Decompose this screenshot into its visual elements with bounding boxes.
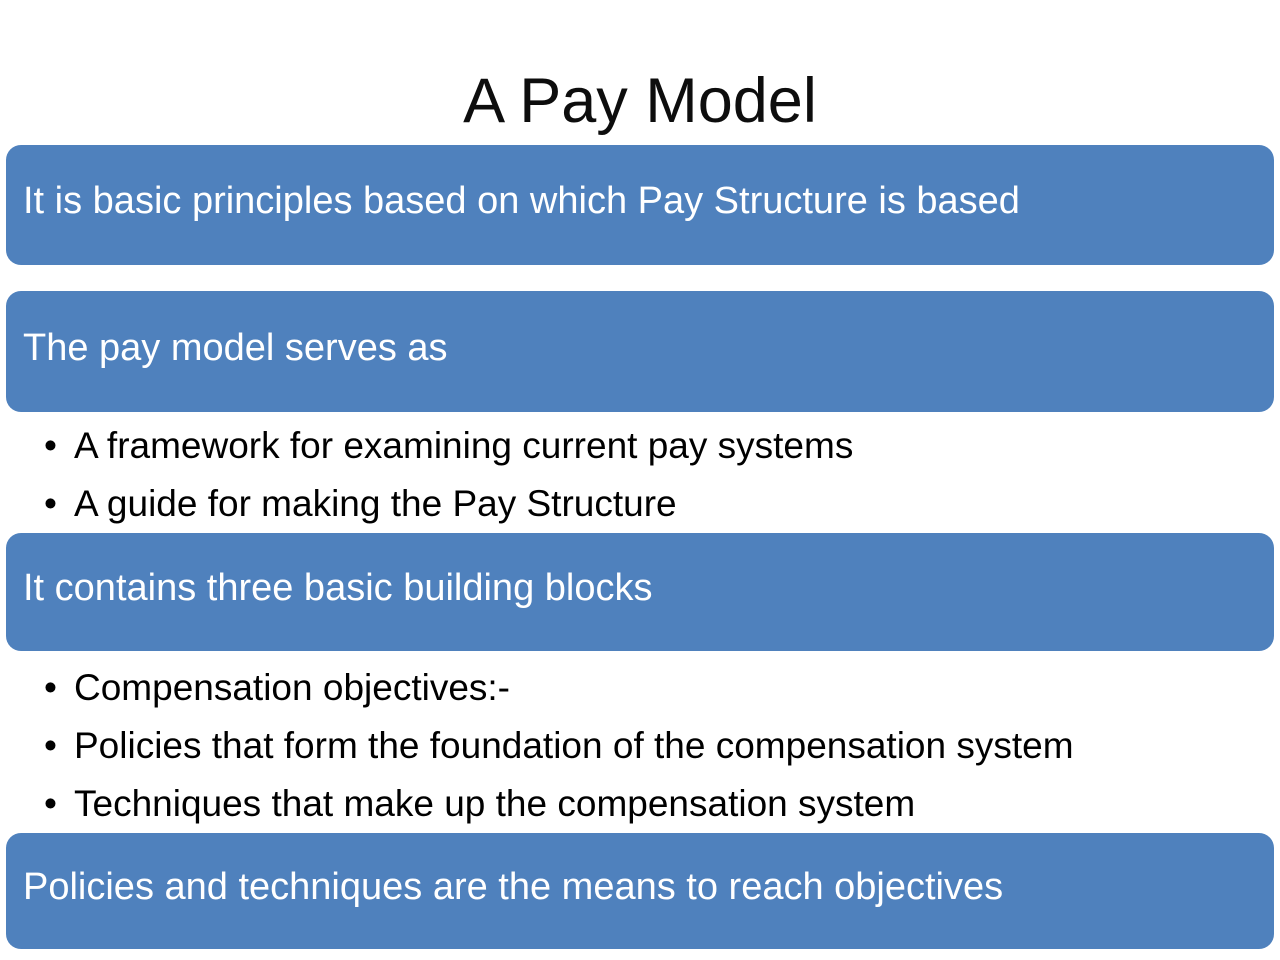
page-title: A Pay Model <box>0 70 1280 133</box>
list-item-label: Compensation objectives:- <box>74 667 510 708</box>
list-item: • Policies that form the foundation of t… <box>40 717 1260 775</box>
list-item: • Techniques that make up the compensati… <box>40 775 1260 833</box>
callout-bar-3[interactable]: It contains three basic building blocks <box>6 533 1274 651</box>
callout-bar-1[interactable]: It is basic principles based on which Pa… <box>6 145 1274 265</box>
bullet-dot-icon: • <box>44 475 57 533</box>
presentation-slide: A Pay Model It is basic principles based… <box>0 0 1280 960</box>
list-item-label: A framework for examining current pay sy… <box>74 425 853 466</box>
bullet-list-1: • A framework for examining current pay … <box>40 417 1260 533</box>
list-item-label: Policies that form the foundation of the… <box>74 725 1074 766</box>
callout-bar-4[interactable]: Policies and techniques are the means to… <box>6 833 1274 949</box>
list-item: • A framework for examining current pay … <box>40 417 1260 475</box>
list-item: • A guide for making the Pay Structure <box>40 475 1260 533</box>
bullet-list-2: • Compensation objectives:- • Policies t… <box>40 659 1260 833</box>
callout-bar-1-label: It is basic principles based on which Pa… <box>6 182 1020 228</box>
callout-bar-4-label: Policies and techniques are the means to… <box>6 868 1003 914</box>
callout-bar-2-label: The pay model serves as <box>6 329 448 375</box>
bullet-dot-icon: • <box>44 717 57 775</box>
list-item: • Compensation objectives:- <box>40 659 1260 717</box>
bullet-dot-icon: • <box>44 775 57 833</box>
list-item-label: Techniques that make up the compensation… <box>74 783 915 824</box>
callout-bar-3-label: It contains three basic building blocks <box>6 569 652 615</box>
list-item-label: A guide for making the Pay Structure <box>74 483 677 524</box>
bullet-dot-icon: • <box>44 659 57 717</box>
callout-bar-2[interactable]: The pay model serves as <box>6 291 1274 412</box>
bullet-dot-icon: • <box>44 417 57 475</box>
